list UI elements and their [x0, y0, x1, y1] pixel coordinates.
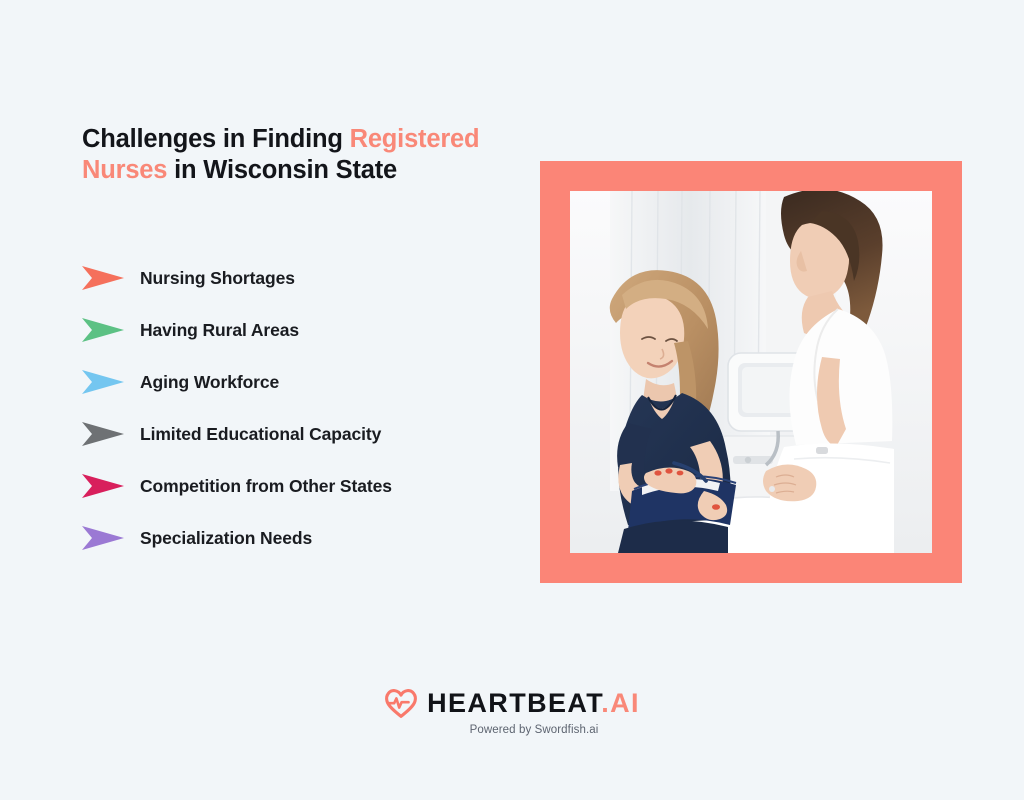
- footer-tagline: Powered by Swordfish.ai: [470, 724, 599, 736]
- list-item: Nursing Shortages: [82, 262, 512, 294]
- arrow-right-icon: [82, 525, 124, 551]
- list-item-label: Having Rural Areas: [140, 320, 299, 341]
- brand-name: HEARTBEAT: [427, 688, 601, 718]
- list-item-label: Specialization Needs: [140, 528, 312, 549]
- title-text-plain-1: Challenges in Finding: [82, 125, 350, 153]
- clinic-photo-illustration: [570, 191, 932, 553]
- title-line-2: Nurses in Wisconsin State: [82, 155, 522, 186]
- photo-frame: [540, 161, 962, 583]
- title-text-accent-1: Registered: [350, 125, 480, 153]
- list-item: Competition from Other States: [82, 470, 512, 502]
- brand-suffix: .AI: [601, 688, 640, 718]
- list-item: Specialization Needs: [82, 522, 512, 554]
- title-line-1: Challenges in Finding Registered: [82, 124, 522, 155]
- logo-row: HEARTBEAT.AI: [384, 688, 640, 719]
- list-item-label: Aging Workforce: [140, 372, 279, 393]
- clinic-photo: [570, 191, 932, 553]
- list-item: Aging Workforce: [82, 366, 512, 398]
- arrow-right-icon: [82, 369, 124, 395]
- arrow-right-icon: [82, 317, 124, 343]
- arrow-right-icon: [82, 473, 124, 499]
- title-text-accent-2: Nurses: [82, 156, 167, 184]
- footer-logo: HEARTBEAT.AI Powered by Swordfish.ai: [0, 688, 1024, 736]
- heartbeat-pulse-icon: [384, 688, 418, 719]
- brand-wordmark: HEARTBEAT.AI: [427, 690, 640, 717]
- challenges-list: Nursing Shortages Having Rural Areas Agi…: [82, 262, 512, 574]
- list-item-label: Nursing Shortages: [140, 268, 295, 289]
- list-item-label: Limited Educational Capacity: [140, 424, 381, 445]
- page-title: Challenges in Finding Registered Nurses …: [82, 124, 522, 186]
- title-text-plain-2: in Wisconsin State: [167, 156, 397, 184]
- arrow-right-icon: [82, 265, 124, 291]
- arrow-right-icon: [82, 421, 124, 447]
- list-item-label: Competition from Other States: [140, 476, 392, 497]
- list-item: Having Rural Areas: [82, 314, 512, 346]
- infographic-canvas: Challenges in Finding Registered Nurses …: [0, 0, 1024, 800]
- list-item: Limited Educational Capacity: [82, 418, 512, 450]
